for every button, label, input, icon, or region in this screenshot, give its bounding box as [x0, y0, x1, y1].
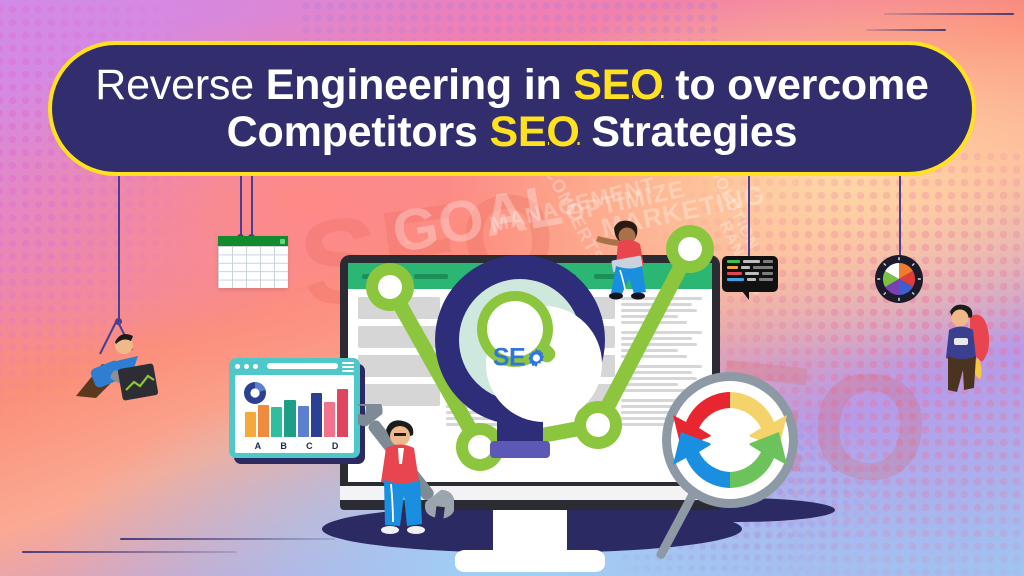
pie-chart-badge — [874, 254, 924, 304]
analytics-chart-canvas: ABCD — [235, 375, 354, 453]
browser-dot-3 — [253, 364, 258, 369]
seo-magnifier-emblem: SE — [435, 255, 605, 460]
analytics-card-body: ABCD — [229, 358, 360, 458]
code-token — [727, 260, 740, 263]
person-head — [952, 310, 969, 327]
x-tick-A: A — [255, 441, 262, 451]
x-tick-B: B — [280, 441, 287, 451]
spreadsheet-header-dot — [280, 239, 285, 244]
code-line-3 — [727, 272, 773, 275]
title-word-strategies: Strategies — [580, 108, 798, 156]
person-pants — [611, 266, 646, 294]
person-sitting-with-laptop — [590, 218, 670, 310]
shoe-left — [609, 293, 623, 300]
bar-B2 — [284, 400, 295, 437]
bar-B1 — [271, 407, 282, 437]
magnifier-handle-base — [490, 441, 550, 458]
code-token — [727, 272, 742, 275]
person-on-rope-with-chart-board — [62, 310, 172, 420]
bar-C2 — [311, 393, 322, 437]
bar-D2 — [337, 389, 348, 437]
cycle-center — [710, 420, 750, 460]
bar-A2 — [258, 405, 269, 437]
hamburger-menu-icon[interactable] — [342, 362, 354, 374]
hang-string-rope-person — [118, 176, 120, 322]
code-token — [743, 260, 760, 263]
seo-banner-graphic: SEOGOALMANAGEMENTCONVERTSOPTIMIZEMARKETI… — [0, 0, 1024, 576]
spreadsheet-header-bar — [218, 236, 288, 246]
person-holding-wrench — [358, 404, 454, 538]
hang-string-sheet-1 — [240, 176, 242, 238]
code-token — [753, 266, 773, 269]
code-line-4 — [727, 278, 773, 281]
pie-badge-slices — [883, 263, 915, 295]
shoe-right — [407, 526, 425, 534]
browser-dot-2 — [244, 364, 249, 369]
analytics-browser-card: ABCD — [229, 358, 360, 458]
spreadsheet-grid — [218, 246, 288, 288]
code-token — [762, 272, 773, 275]
person-arm — [596, 236, 619, 246]
code-token — [759, 278, 773, 281]
code-line-1 — [727, 260, 773, 263]
hang-string-pie-badge — [899, 176, 901, 256]
x-tick-C: C — [306, 441, 313, 451]
monitor-stand-base — [455, 550, 605, 572]
title-word-competitors: Competitors — [227, 108, 490, 156]
code-token — [727, 278, 744, 281]
bar-D1 — [324, 402, 335, 437]
person-with-jetpack — [936, 300, 1000, 400]
cycle-process-magnifier — [655, 370, 805, 565]
code-token — [727, 266, 738, 269]
bar-chart-x-axis-labels: ABCD — [245, 441, 348, 451]
banner-title-line-2: Competitors SEO Strategies — [227, 110, 798, 155]
title-word-engineering-in: Engineering in — [266, 61, 574, 109]
gear-icon — [526, 347, 547, 368]
code-speech-bubble — [722, 256, 778, 292]
spreadsheet-icon — [218, 236, 288, 288]
seo-logo-text: SE — [493, 343, 547, 372]
bar-chart-bars — [245, 389, 348, 437]
code-token — [747, 278, 756, 281]
title-seo-highlight-2: SEO — [489, 108, 579, 156]
shoe-right — [631, 293, 645, 300]
person-pants — [948, 356, 976, 392]
shoe-left — [381, 526, 399, 534]
title-seo-highlight-1: SEO — [573, 61, 663, 109]
browser-dot-1 — [235, 364, 240, 369]
person-pants — [384, 480, 422, 526]
bar-A1 — [245, 412, 256, 437]
browser-chrome-bar — [229, 358, 360, 374]
browser-address-bar[interactable] — [267, 363, 338, 369]
banner-title-box: Reverse Engineering in SEO to overcome C… — [48, 41, 976, 176]
title-word-reverse: Reverse — [95, 61, 265, 109]
code-token — [745, 272, 758, 275]
title-word-to-overcome: to overcome — [664, 61, 929, 109]
glasses — [394, 433, 406, 436]
chart-board — [117, 363, 158, 401]
code-token — [763, 260, 773, 263]
held-device — [954, 338, 968, 345]
x-tick-D: D — [332, 441, 339, 451]
seo-logo-letters: SE — [493, 343, 525, 372]
code-token — [741, 266, 751, 269]
bar-C1 — [298, 406, 309, 437]
banner-title-line-1: Reverse Engineering in SEO to overcome — [95, 63, 929, 108]
code-line-2 — [727, 266, 773, 269]
hang-string-sheet-2 — [251, 176, 253, 238]
monitor-stand-neck — [493, 506, 567, 552]
hang-string-bubble — [748, 176, 750, 258]
